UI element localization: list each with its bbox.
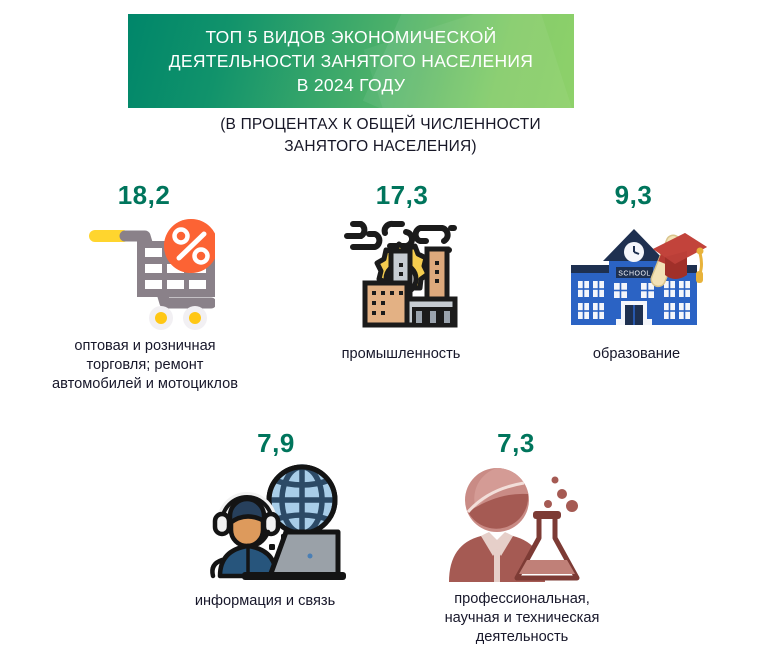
stat-label-industry-line-1: промышленность bbox=[290, 345, 512, 364]
stat-label-science: профессиональная, научная и техническая … bbox=[392, 590, 652, 647]
operator-globe-laptop-icon bbox=[136, 462, 410, 582]
stat-value-trade: 18,2 bbox=[0, 180, 290, 210]
page-subtitle-line-1: (В ПРОЦЕНТАХ К ОБЩЕЙ ЧИСЛЕННОСТИ bbox=[0, 114, 761, 136]
stat-value-science: 7,3 bbox=[380, 428, 652, 458]
stat-label-science-line-1: профессиональная, bbox=[392, 590, 652, 609]
stat-label-trade: оптовая и розничная торговля; ремонт авт… bbox=[0, 337, 290, 394]
stat-label-education-line-1: образование bbox=[512, 345, 761, 364]
page-title: ТОП 5 ВИДОВ ЭКОНОМИЧЕСКОЙ ДЕЯТЕЛЬНОСТИ З… bbox=[128, 14, 574, 97]
stat-label-trade-line-2: торговля; ремонт bbox=[0, 356, 290, 375]
stat-item-science: 7,3 профессиональная, bbox=[392, 428, 652, 647]
factory-gear-icon bbox=[290, 216, 512, 331]
stat-label-science-line-3: деятельность bbox=[392, 628, 652, 647]
scientist-flask-icon bbox=[384, 462, 652, 582]
stat-item-ict: 7,9 bbox=[120, 428, 410, 611]
stat-label-ict: информация и связь bbox=[120, 592, 410, 611]
stat-label-trade-line-1: оптовая и розничная bbox=[0, 337, 290, 356]
stat-label-ict-line-1: информация и связь bbox=[120, 592, 410, 611]
page-title-line-3: В 2024 ГОДУ bbox=[128, 73, 574, 97]
school-sign-text: SCHOOL bbox=[618, 271, 651, 278]
header-banner: ТОП 5 ВИДОВ ЭКОНОМИЧЕСКОЙ ДЕЯТЕЛЬНОСТИ З… bbox=[128, 14, 574, 108]
page-title-line-1: ТОП 5 ВИДОВ ЭКОНОМИЧЕСКОЙ bbox=[128, 25, 574, 49]
stat-label-industry: промышленность bbox=[290, 345, 512, 364]
page-subtitle-line-2: ЗАНЯТОГО НАСЕЛЕНИЯ) bbox=[0, 136, 761, 158]
stat-label-education: образование bbox=[512, 345, 761, 364]
stat-label-science-line-2: научная и техническая bbox=[392, 609, 652, 628]
stat-value-education: 9,3 bbox=[506, 180, 761, 210]
school-graduation-cap-icon: SCHOOL bbox=[508, 216, 761, 331]
stat-value-industry: 17,3 bbox=[292, 180, 512, 210]
page-title-line-2: ДЕЯТЕЛЬНОСТИ ЗАНЯТОГО НАСЕЛЕНИЯ bbox=[128, 49, 574, 73]
page-subtitle: (В ПРОЦЕНТАХ К ОБЩЕЙ ЧИСЛЕННОСТИ ЗАНЯТОГ… bbox=[0, 114, 761, 158]
stat-value-ict: 7,9 bbox=[142, 428, 410, 458]
stat-label-trade-line-3: автомобилей и мотоциклов bbox=[0, 375, 290, 394]
stat-item-trade: 18,2 bbox=[0, 180, 290, 394]
shopping-cart-discount-icon bbox=[0, 216, 290, 331]
stat-item-industry: 17,3 bbox=[290, 180, 512, 364]
stat-item-education: 9,3 SCHOOL bbox=[512, 180, 761, 364]
